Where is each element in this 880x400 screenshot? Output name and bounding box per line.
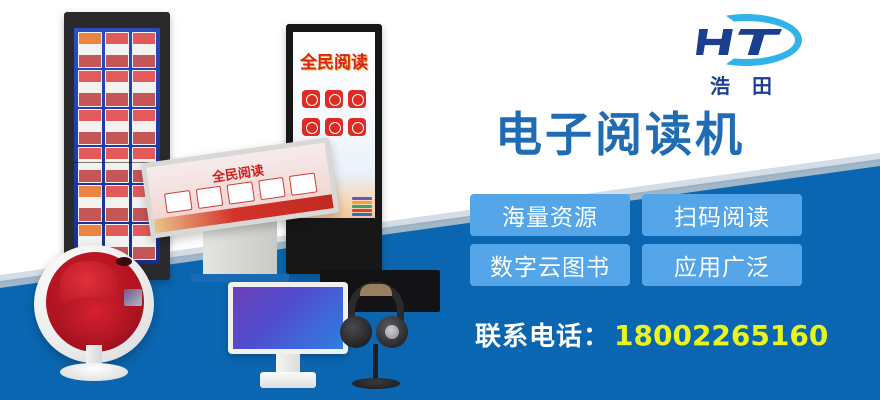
feature-tag-massive-resources[interactable]: 海量资源 [470, 194, 630, 236]
vertical-kiosk-icon-grid [301, 90, 367, 136]
book-cover [78, 32, 102, 68]
headphone-stand-base [352, 378, 400, 389]
touch-table-card [164, 190, 192, 213]
kiosk-app-icon [325, 90, 343, 108]
book-cover [105, 185, 129, 221]
kiosk-app-icon [302, 118, 320, 136]
touch-table-card [227, 181, 255, 204]
logo-chinese-name: 浩 田 [682, 70, 802, 99]
touch-table-card [195, 186, 223, 209]
book-cover [78, 147, 102, 183]
kiosk-app-icon [348, 118, 366, 136]
vertical-kiosk-screen-title: 全民阅读 [293, 48, 375, 73]
all-in-one-base [260, 372, 316, 388]
ball-chair-seat [58, 297, 132, 343]
feature-tag-list: 海量资源 扫码阅读 数字云图书 应用广泛 [470, 194, 802, 286]
touch-table-screen: 全民阅读 [146, 143, 333, 233]
feature-tag-wide-application[interactable]: 应用广泛 [642, 244, 802, 286]
headphone-earcup-right [376, 316, 408, 348]
all-in-one-bezel [228, 282, 348, 354]
touch-table-card [258, 177, 286, 200]
book-cover [105, 147, 129, 183]
book-cover [132, 70, 156, 106]
logo-letter-h-icon [696, 29, 736, 55]
kiosk-app-icon [325, 118, 343, 136]
book-cover [105, 70, 129, 106]
ball-chair-base [60, 363, 128, 381]
banner-text-column: 浩 田 电子阅读机 海量资源 扫码阅读 数字云图书 应用广泛 联系电话： 180… [460, 0, 880, 400]
product-red-ball-reading-chair [34, 245, 154, 365]
all-in-one-screen [233, 287, 343, 349]
kiosk-app-icon [302, 90, 320, 108]
touch-table-top: 全民阅读 [141, 137, 340, 239]
headphone-headband-pad [360, 284, 392, 296]
contact-phone-line: 联系电话： 18002265160 [475, 316, 828, 353]
feature-tag-scan-to-read[interactable]: 扫码阅读 [642, 194, 802, 236]
book-stack-illustration [352, 194, 372, 216]
product-horizontal-touch-table: 全民阅读 [145, 150, 335, 280]
haotian-logo: 浩 田 [682, 14, 802, 96]
feature-tag-digital-cloud-library[interactable]: 数字云图书 [470, 244, 630, 286]
book-cover [132, 32, 156, 68]
all-in-one-tile-grid [239, 299, 337, 302]
book-cover [132, 109, 156, 145]
product-all-in-one-tablet-monitor [228, 282, 348, 392]
book-cover [78, 185, 102, 221]
contact-phone-number: 18002265160 [614, 319, 828, 352]
product-photo-collage: 全民阅读 [0, 0, 460, 400]
product-banner: 全民阅读 [0, 0, 880, 400]
book-cover [105, 32, 129, 68]
headphone-earcup-left [340, 316, 372, 348]
product-headphones-on-stand [336, 282, 416, 390]
touch-table-base [191, 274, 289, 282]
logo-cn-second: 田 [752, 70, 774, 99]
headphone-stand-pole [373, 344, 378, 382]
touch-table-card [289, 172, 317, 195]
logo-mark-icon [682, 14, 802, 70]
contact-phone-label: 联系电话： [475, 316, 610, 353]
ball-chair-control-panel [124, 289, 142, 306]
book-cover [78, 109, 102, 145]
ball-chair-speaker [116, 257, 132, 266]
book-cover [78, 70, 102, 106]
banner-title: 电子阅读机 [495, 112, 745, 159]
logo-cn-first: 浩 [710, 70, 732, 99]
all-in-one-neck [276, 354, 300, 374]
book-cover [105, 109, 129, 145]
kiosk-app-icon [348, 90, 366, 108]
